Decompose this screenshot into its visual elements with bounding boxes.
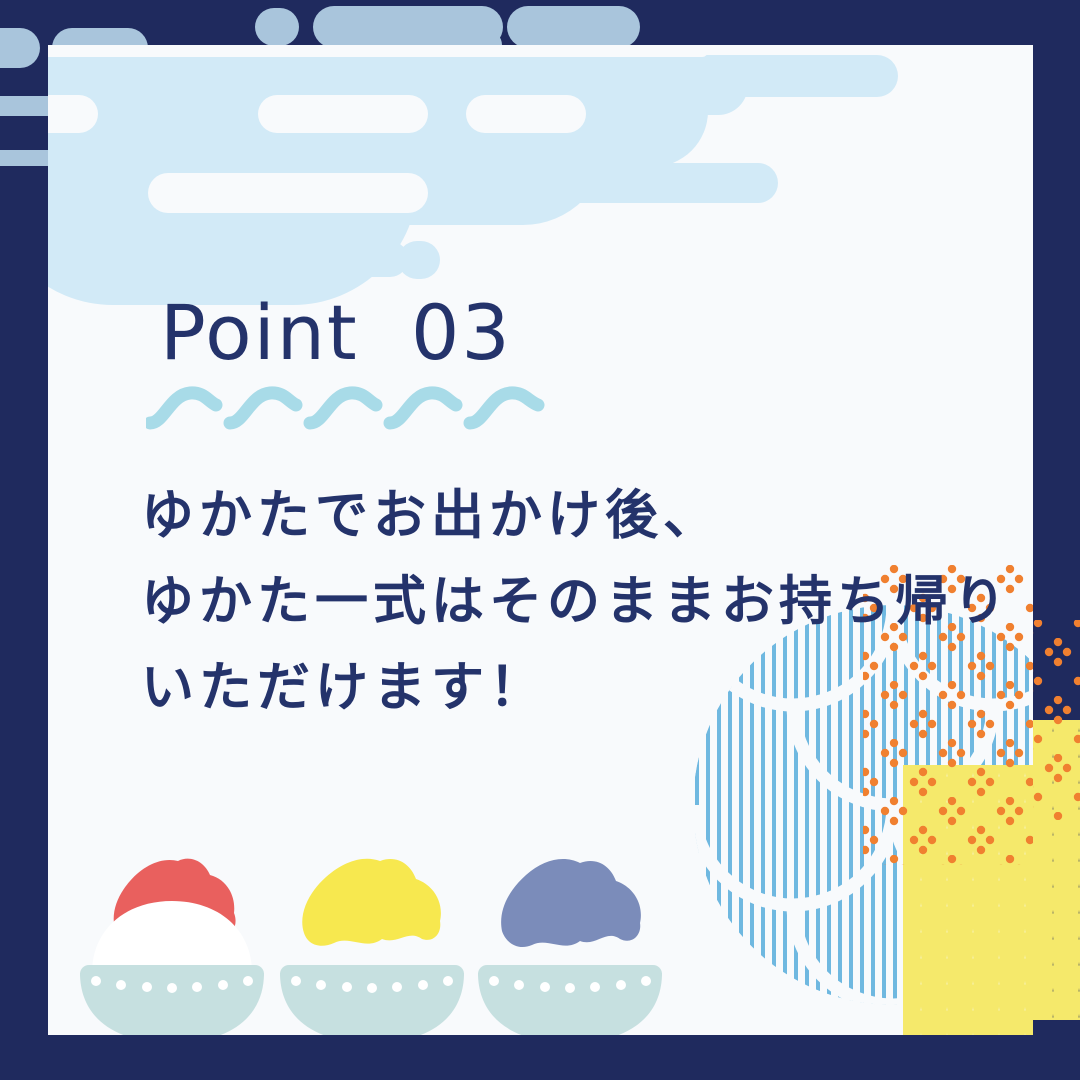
body-line: ゆかた一式はそのままお持ち帰り <box>141 559 1021 645</box>
kakigori-ramune <box>456 805 686 1035</box>
wave-underline-icon <box>146 375 546 431</box>
bowl-rim <box>478 965 662 983</box>
bowl-stem <box>159 1033 185 1035</box>
bowl-stem <box>359 1033 385 1035</box>
bowl-rim <box>80 965 264 983</box>
bowl-stem <box>557 1033 583 1035</box>
syrup-top <box>501 859 641 947</box>
cloud-bar <box>507 6 640 48</box>
promo-card: Point 03 ゆかたでお出かけ後、 ゆかた一式はそのままお持ち帰り いただけ… <box>0 0 1080 1080</box>
cloud-dot <box>255 8 299 46</box>
kakigori-lemon <box>258 805 488 1035</box>
scale-pattern-overflow <box>1033 720 1080 1020</box>
body-line: ゆかたでお出かけ後、 <box>141 473 1021 559</box>
dot-pattern-overflow <box>1033 620 1080 820</box>
kakigori-strawberry <box>58 805 288 1035</box>
cloud-bar <box>313 6 503 48</box>
bowl-rim <box>280 965 464 983</box>
syrup-top <box>302 859 441 946</box>
body-line: いただけます！ <box>141 645 1021 731</box>
cloud-bar <box>0 28 40 68</box>
body-copy: ゆかたでお出かけ後、 ゆかた一式はそのままお持ち帰り いただけます！ <box>141 473 1021 731</box>
page-title: Point 03 <box>160 288 512 377</box>
content-panel: Point 03 ゆかたでお出かけ後、 ゆかた一式はそのままお持ち帰り いただけ… <box>48 45 1033 1035</box>
